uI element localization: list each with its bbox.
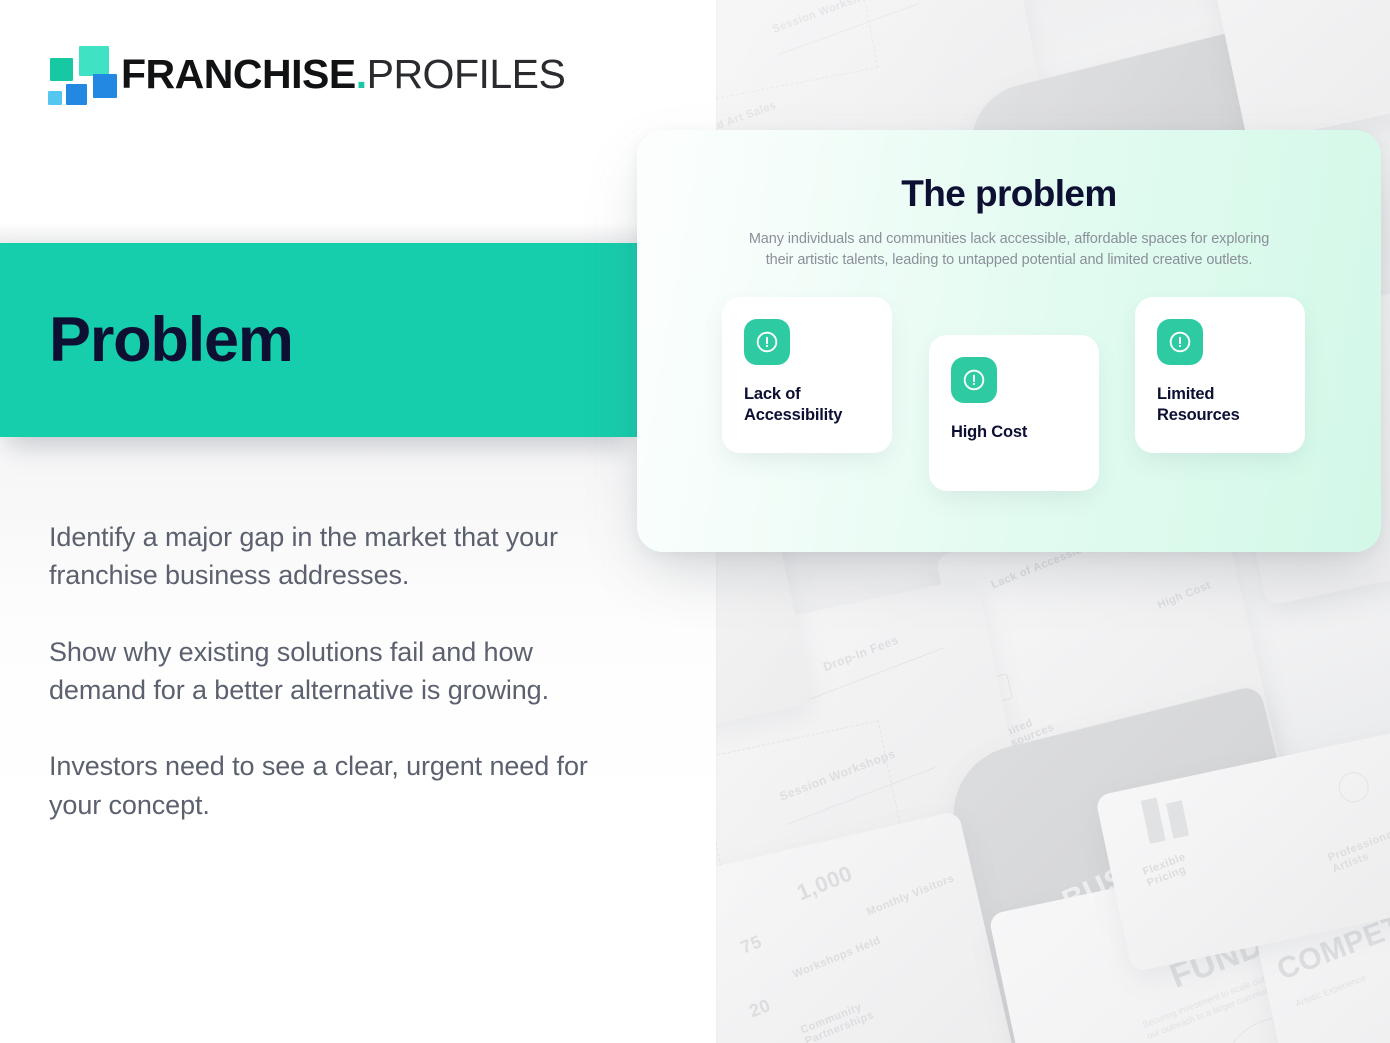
body-copy: Identify a major gap in the market that … [49, 518, 624, 824]
ghost-label: Community Partnerships [799, 999, 873, 1043]
body-paragraph: Investors need to see a clear, urgent ne… [49, 747, 624, 824]
ghost-label: 75 [738, 931, 765, 958]
section-banner: Problem [0, 243, 637, 437]
brand-name-bold: FRANCHISE [121, 51, 356, 97]
ghost-label: High Cost [1156, 579, 1213, 611]
alert-circle-icon [951, 357, 997, 403]
brand-name-dot: . [356, 51, 367, 97]
page-title: Problem [49, 309, 293, 372]
problem-card-label: Limited Resources [1157, 384, 1285, 426]
alert-circle-icon [1157, 319, 1203, 365]
problem-card-row: Lack of Accessibility High Cost [637, 297, 1381, 527]
brand-name-light: PROFILES [367, 51, 566, 97]
problem-card[interactable]: High Cost [929, 335, 1099, 491]
ghost-label: Workshops Held [791, 934, 882, 980]
brand-logo: FRANCHISE.PROFILES [48, 45, 565, 103]
problem-card-label: High Cost [951, 422, 1079, 443]
problem-card-label: Lack of Accessibility [744, 384, 872, 426]
alert-circle-icon [744, 319, 790, 365]
ghost-label: Flexible Pricing [1141, 846, 1206, 890]
banner-top-shadow [0, 222, 637, 244]
preview-title: The problem [637, 173, 1381, 215]
left-content-panel: FRANCHISE.PROFILES Problem Identify a ma… [0, 0, 716, 1043]
body-paragraph: Show why existing solutions fail and how… [49, 633, 624, 710]
ghost-label: 1,000 [793, 860, 856, 906]
body-paragraph: Identify a major gap in the market that … [49, 518, 624, 595]
preview-subtitle: Many individuals and communities lack ac… [744, 229, 1274, 271]
problem-card[interactable]: Limited Resources [1135, 297, 1305, 453]
ghost-label: 20 [746, 995, 773, 1022]
logo-mark-icon [48, 45, 106, 103]
ghost-label: Monthly Visitors [865, 872, 956, 918]
ghost-label: Professional Artists [1326, 828, 1390, 875]
slide-canvas: Drop-In Fees Session Workshops Commissio… [0, 0, 1390, 1043]
brand-wordmark: FRANCHISE.PROFILES [121, 54, 565, 95]
problem-card[interactable]: Lack of Accessibility [722, 297, 892, 453]
slide-preview-card[interactable]: The problem Many individuals and communi… [637, 130, 1381, 552]
